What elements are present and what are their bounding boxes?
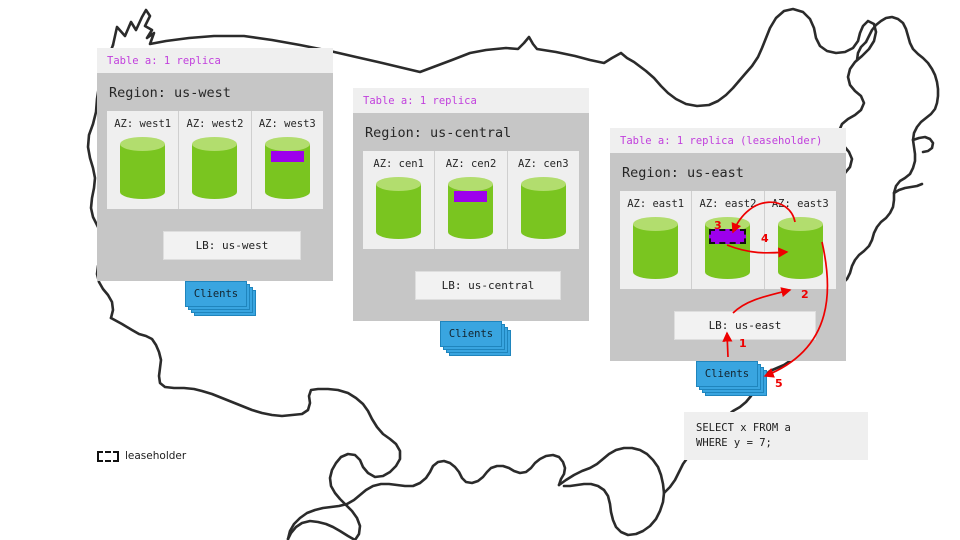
region-title-us-central: Region: us-central [365, 125, 579, 141]
cylinder-top-icon [521, 177, 566, 191]
cylinder-body-icon [192, 144, 237, 192]
az-cell-east3[interactable]: AZ: east3 [765, 191, 836, 289]
clients-label-us-east: Clients [696, 361, 758, 387]
database-node-east3[interactable] [778, 217, 823, 279]
load-balancer-us-west[interactable]: LB: us-west [163, 231, 301, 260]
az-cell-cen3[interactable]: AZ: cen3 [508, 151, 579, 249]
database-node-west3[interactable] [265, 137, 310, 199]
table-replica-label-us-west: Table a: 1 replica [97, 48, 333, 73]
cylinder-body-icon [521, 184, 566, 232]
az-label-cen1: AZ: cen1 [373, 158, 424, 170]
step-number-1: 1 [739, 337, 747, 350]
step-number-3: 3 [714, 219, 722, 232]
sql-query-box: SELECT x FROM a WHERE y = 7; [684, 412, 868, 460]
cylinder-body-icon [120, 144, 165, 192]
cylinder-body-icon [376, 184, 421, 232]
az-label-cen2: AZ: cen2 [446, 158, 497, 170]
az-cell-cen1[interactable]: AZ: cen1 [363, 151, 435, 249]
az-label-east3: AZ: east3 [772, 198, 829, 210]
az-cell-west2[interactable]: AZ: west2 [179, 111, 251, 209]
legend: leaseholder [97, 450, 186, 462]
cylinder-top-icon [120, 137, 165, 151]
step-number-2: 2 [801, 288, 809, 301]
cylinder-top-icon [265, 137, 310, 151]
az-label-west1: AZ: west1 [114, 118, 171, 130]
az-cell-east1[interactable]: AZ: east1 [620, 191, 692, 289]
step-number-5: 5 [775, 377, 783, 390]
az-cell-west3[interactable]: AZ: west3 [252, 111, 323, 209]
clients-label-us-west: Clients [185, 281, 247, 307]
database-node-east1[interactable] [633, 217, 678, 279]
az-row-us-east: AZ: east1 AZ: east2 [620, 191, 836, 289]
az-label-west3: AZ: west3 [259, 118, 316, 130]
cylinder-body-icon [633, 224, 678, 272]
database-node-cen2[interactable] [448, 177, 493, 239]
database-node-west2[interactable] [192, 137, 237, 199]
az-cell-east2[interactable]: AZ: east2 [692, 191, 764, 289]
az-label-east1: AZ: east1 [627, 198, 684, 210]
region-title-us-east: Region: us-east [622, 165, 836, 181]
load-balancer-us-central[interactable]: LB: us-central [415, 271, 561, 300]
az-label-west2: AZ: west2 [187, 118, 244, 130]
cylinder-top-icon [633, 217, 678, 231]
leaseholder-swatch-icon [97, 451, 119, 462]
database-node-cen1[interactable] [376, 177, 421, 239]
az-label-cen3: AZ: cen3 [518, 158, 569, 170]
diagram-canvas: Table a: 1 replica Region: us-west AZ: w… [0, 0, 960, 540]
cylinder-top-icon [778, 217, 823, 231]
database-node-cen3[interactable] [521, 177, 566, 239]
replica-block-cen2 [454, 191, 487, 202]
table-replica-label-us-east: Table a: 1 replica (leaseholder) [610, 128, 846, 153]
az-row-us-west: AZ: west1 AZ: west2 [107, 111, 323, 209]
cylinder-body-icon [778, 224, 823, 272]
load-balancer-us-east[interactable]: LB: us-east [674, 311, 816, 340]
az-cell-west1[interactable]: AZ: west1 [107, 111, 179, 209]
clients-us-east[interactable]: Clients [696, 361, 758, 387]
step-number-4: 4 [761, 232, 769, 245]
legend-label: leaseholder [125, 450, 186, 462]
cylinder-top-icon [376, 177, 421, 191]
az-label-east2: AZ: east2 [700, 198, 757, 210]
az-row-us-central: AZ: cen1 AZ: cen2 [363, 151, 579, 249]
replica-block-west3 [271, 151, 304, 162]
region-title-us-west: Region: us-west [109, 85, 323, 101]
database-node-east2[interactable] [705, 217, 750, 279]
az-cell-cen2[interactable]: AZ: cen2 [435, 151, 507, 249]
table-replica-label-us-central: Table a: 1 replica [353, 88, 589, 113]
clients-us-west[interactable]: Clients [185, 281, 247, 307]
clients-label-us-central: Clients [440, 321, 502, 347]
database-node-west1[interactable] [120, 137, 165, 199]
clients-us-central[interactable]: Clients [440, 321, 502, 347]
